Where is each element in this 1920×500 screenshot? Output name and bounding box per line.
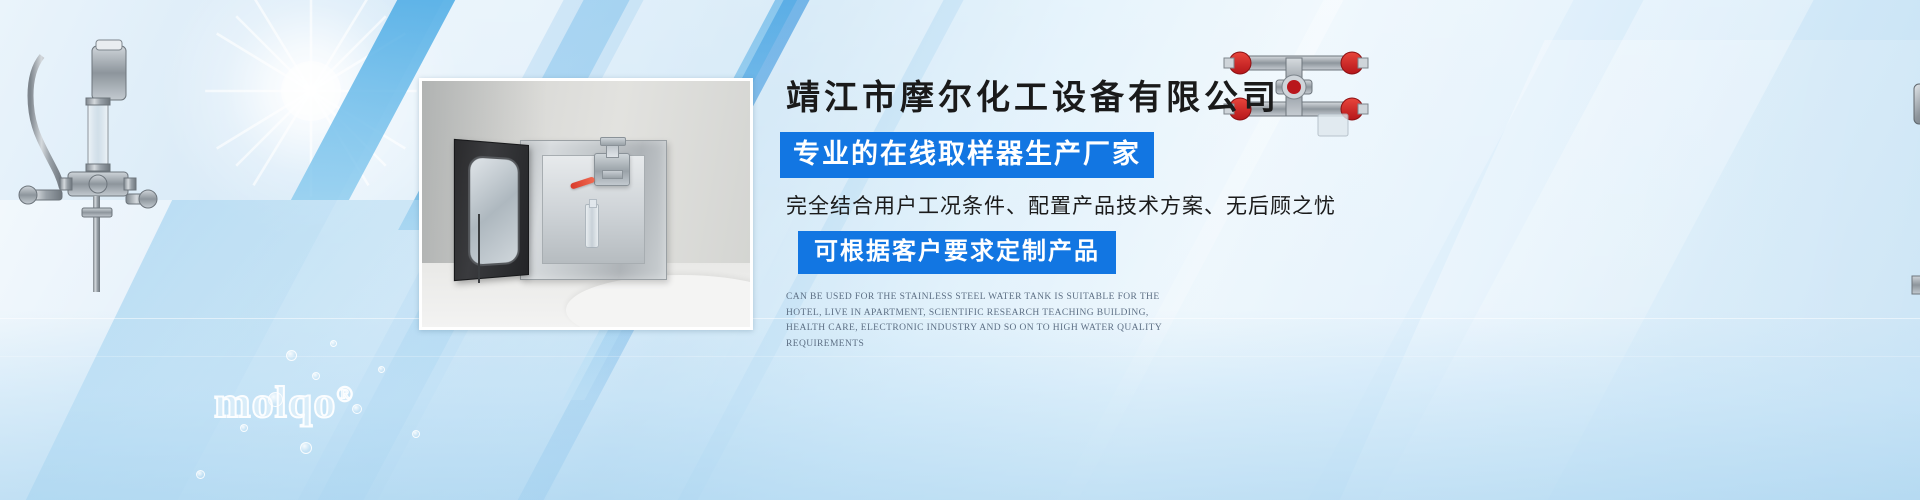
photo-door-window <box>467 155 519 267</box>
product-flanged-valve-body <box>1898 22 1920 202</box>
photo-cabinet-door <box>454 139 529 281</box>
secondary-slogan-badge: 可根据客户要求定制产品 <box>798 231 1116 274</box>
product-inline-sampler-small <box>1908 228 1920 403</box>
photo-flange <box>602 170 623 179</box>
bubble-icon <box>286 350 297 361</box>
english-caption: CAN BE USED FOR THE STAINLESS STEEL WATE… <box>786 290 1184 353</box>
product-sampler-assembly-left <box>6 22 166 292</box>
bubble-icon <box>378 366 385 373</box>
bubble-icon <box>300 442 312 454</box>
product-photo <box>422 81 750 327</box>
banner-text-block: 靖江市摩尔化工设备有限公司 专业的在线取样器生产厂家 完全结合用户工况条件、配置… <box>780 60 1420 353</box>
company-title: 靖江市摩尔化工设备有限公司 <box>786 82 1420 116</box>
photo-sample-bottle <box>585 204 599 247</box>
product-photo-frame <box>419 78 753 330</box>
watermark-text: molqo <box>214 378 336 427</box>
primary-slogan-badge: 专业的在线取样器生产厂家 <box>780 132 1154 178</box>
promo-banner: 靖江市摩尔化工设备有限公司 专业的在线取样器生产厂家 完全结合用户工况条件、配置… <box>0 0 1920 500</box>
bubble-icon <box>330 340 337 347</box>
photo-cable <box>478 214 480 283</box>
bubble-icon <box>196 470 205 479</box>
horizon-line <box>0 356 1920 357</box>
registered-mark-icon: ® <box>336 381 353 406</box>
bubble-icon <box>412 430 420 438</box>
feature-subline: 完全结合用户工况条件、配置产品技术方案、无后顾之忧 <box>786 196 1420 217</box>
sun-rays-icon <box>196 0 426 206</box>
watermark-logo: molqo® <box>214 377 354 428</box>
photo-cabinet-body <box>520 140 666 280</box>
